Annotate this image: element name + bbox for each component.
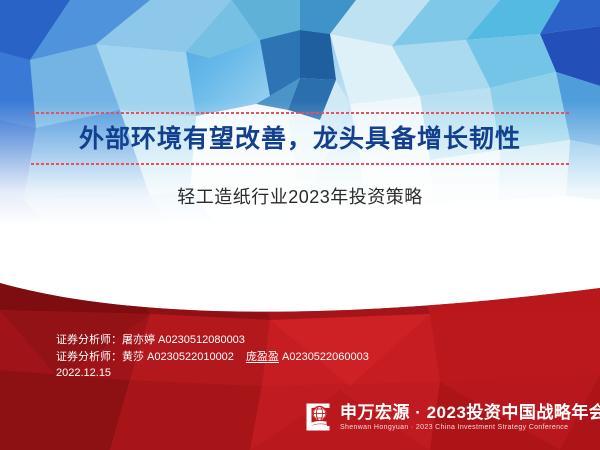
page-subtitle: 轻工造纸行业2023年投资策略 (0, 185, 600, 209)
title-rule-top (31, 112, 569, 114)
analyst-line-1: 证券分析师：屠亦婷 A0230512080003 (56, 332, 369, 349)
globe-in-hand-icon (303, 402, 333, 432)
report-date: 2022.12.15 (56, 365, 369, 382)
title-block: 外部环境有望改善，龙头具备增长韧性 轻工造纸行业2023年投资策略 (0, 112, 600, 209)
page-title: 外部环境有望改善，龙头具备增长韧性 (0, 124, 600, 154)
conference-name-cn: 申万宏源 · 2023投资中国战略年会 (340, 404, 600, 421)
analyst-line-2-second-code: A0230522060003 (282, 351, 369, 363)
slide-canvas: 外部环境有望改善，龙头具备增长韧性 轻工造纸行业2023年投资策略 (0, 0, 600, 450)
analyst-credits: 证券分析师：屠亦婷 A0230512080003 证券分析师：黄莎 A02305… (56, 332, 369, 382)
conference-logo: 申万宏源 · 2023投资中国战略年会 Shenwan Hongyuan · 2… (303, 399, 593, 435)
conference-logo-text: 申万宏源 · 2023投资中国战略年会 Shenwan Hongyuan · 2… (340, 404, 600, 431)
conference-name-en: Shenwan Hongyuan · 2023 China Investment… (340, 424, 600, 431)
analyst-line-2-first: 黄莎 A0230522010002 (122, 351, 234, 363)
title-rule-bottom (31, 163, 569, 165)
analyst-line-2-label: 证券分析师： (56, 351, 122, 363)
analyst-line-2-second-name: 庞盈盈 (246, 351, 279, 363)
analyst-line-2: 证券分析师：黄莎 A0230522010002庞盈盈 A023052206000… (56, 349, 369, 366)
